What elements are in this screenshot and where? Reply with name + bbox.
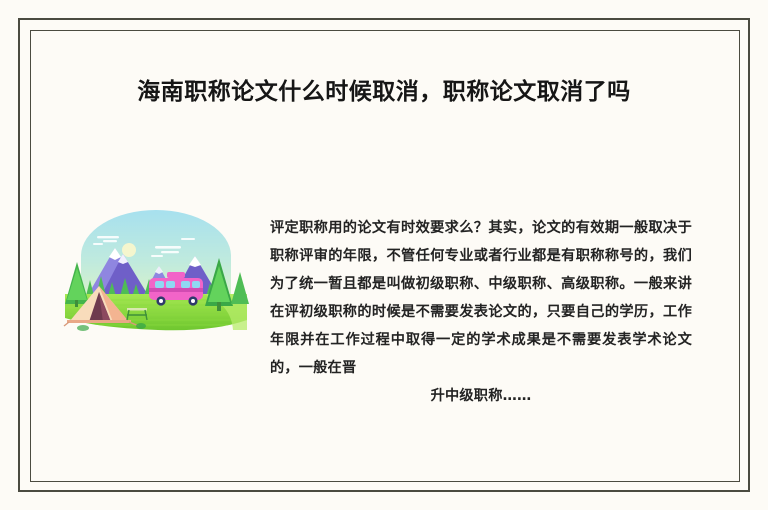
article-body-main: 评定职称用的论文有时效要求么？其实，论文的有效期一般取决于职称评审的年限，不管任… <box>270 220 692 376</box>
article-page: 海南职称论文什么时候取消，职称论文取消了吗 <box>0 0 768 510</box>
article-body-tail: 升中级职称…… <box>270 382 692 410</box>
camping-scene-illustration <box>63 208 249 334</box>
article-body: 评定职称用的论文有时效要求么？其实，论文的有效期一般取决于职称评审的年限，不管任… <box>270 214 692 410</box>
page-title: 海南职称论文什么时候取消，职称论文取消了吗 <box>0 76 768 108</box>
